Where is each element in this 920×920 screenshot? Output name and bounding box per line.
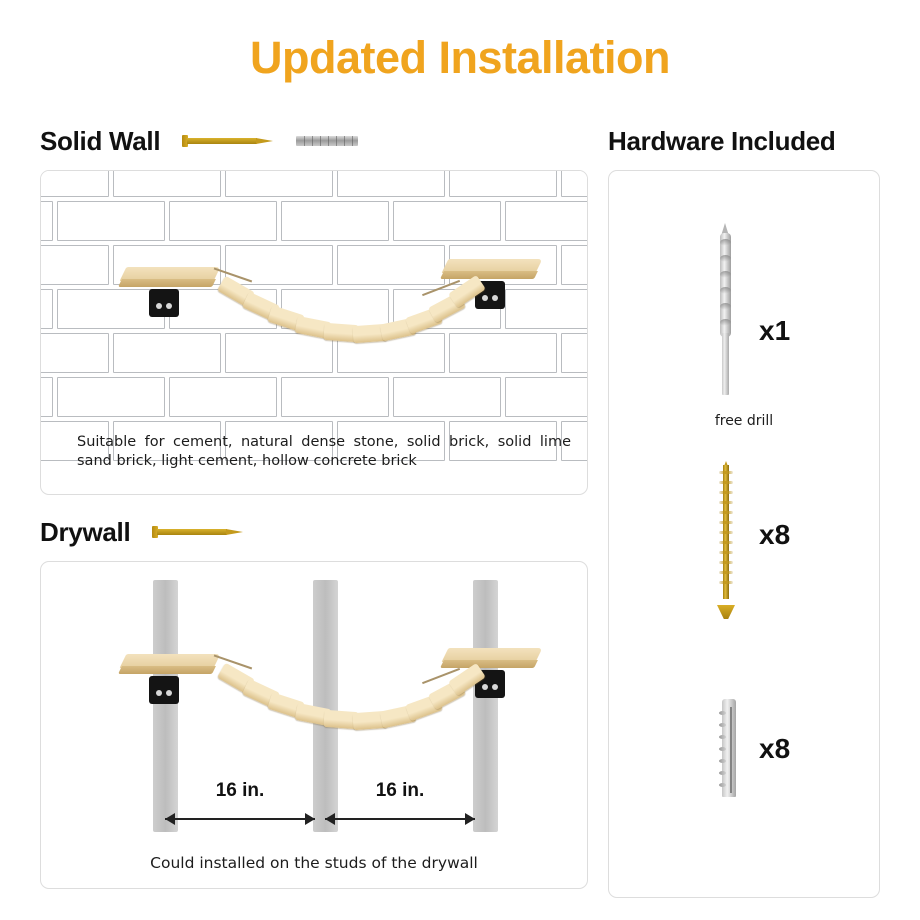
right-column: Hardware Included x1 free drill	[608, 120, 880, 898]
right-shelf	[445, 259, 539, 281]
screw-count: x8	[759, 519, 790, 551]
dimension-label: 16 in.	[165, 780, 315, 802]
dimension-left: 16 in.	[165, 780, 315, 826]
solid-wall-label: Solid Wall	[40, 126, 160, 157]
solid-wall-panel: Suitable for cement, natural dense stone…	[40, 170, 588, 495]
arrow-left-icon	[325, 813, 335, 825]
hardware-included-heading: Hardware Included	[608, 120, 880, 162]
hardware-item-drill: x1 free drill	[609, 223, 879, 443]
screw-icon	[152, 525, 244, 539]
hardware-item-screw: x8	[609, 461, 879, 631]
left-shelf	[123, 654, 217, 676]
drywall-label: Drywall	[40, 517, 130, 548]
cat-bridge-assembly-solid-wall	[41, 171, 588, 439]
dimension-right: 16 in.	[325, 780, 475, 826]
left-column: Solid Wall	[40, 120, 588, 889]
wall-anchor-icon	[719, 699, 739, 797]
left-shelf	[123, 267, 217, 289]
hardware-panel: x1 free drill x8	[608, 170, 880, 898]
solid-wall-caption: Suitable for cement, natural dense stone…	[77, 433, 571, 472]
left-bracket	[149, 676, 179, 704]
page-title: Updated Installation	[0, 32, 920, 84]
arrow-left-icon	[165, 813, 175, 825]
drill-count: x1	[759, 315, 790, 347]
drywall-caption: Could installed on the studs of the dryw…	[41, 854, 587, 872]
anchor-count: x8	[759, 733, 790, 765]
left-bracket	[149, 289, 179, 317]
solid-wall-heading: Solid Wall	[40, 120, 588, 162]
arrow-right-icon	[465, 813, 475, 825]
wall-anchor-icon	[296, 134, 358, 148]
drywall-panel: 16 in. 16 in. Could installed on the stu…	[40, 561, 588, 889]
hardware-item-anchor: x8	[609, 699, 879, 819]
arrow-right-icon	[305, 813, 315, 825]
drill-bit-icon	[717, 223, 733, 395]
screw-icon	[182, 134, 274, 148]
drill-caption: free drill	[609, 413, 879, 429]
drywall-heading: Drywall	[40, 511, 588, 553]
screw-icon	[717, 461, 735, 619]
dimension-label: 16 in.	[325, 780, 475, 802]
